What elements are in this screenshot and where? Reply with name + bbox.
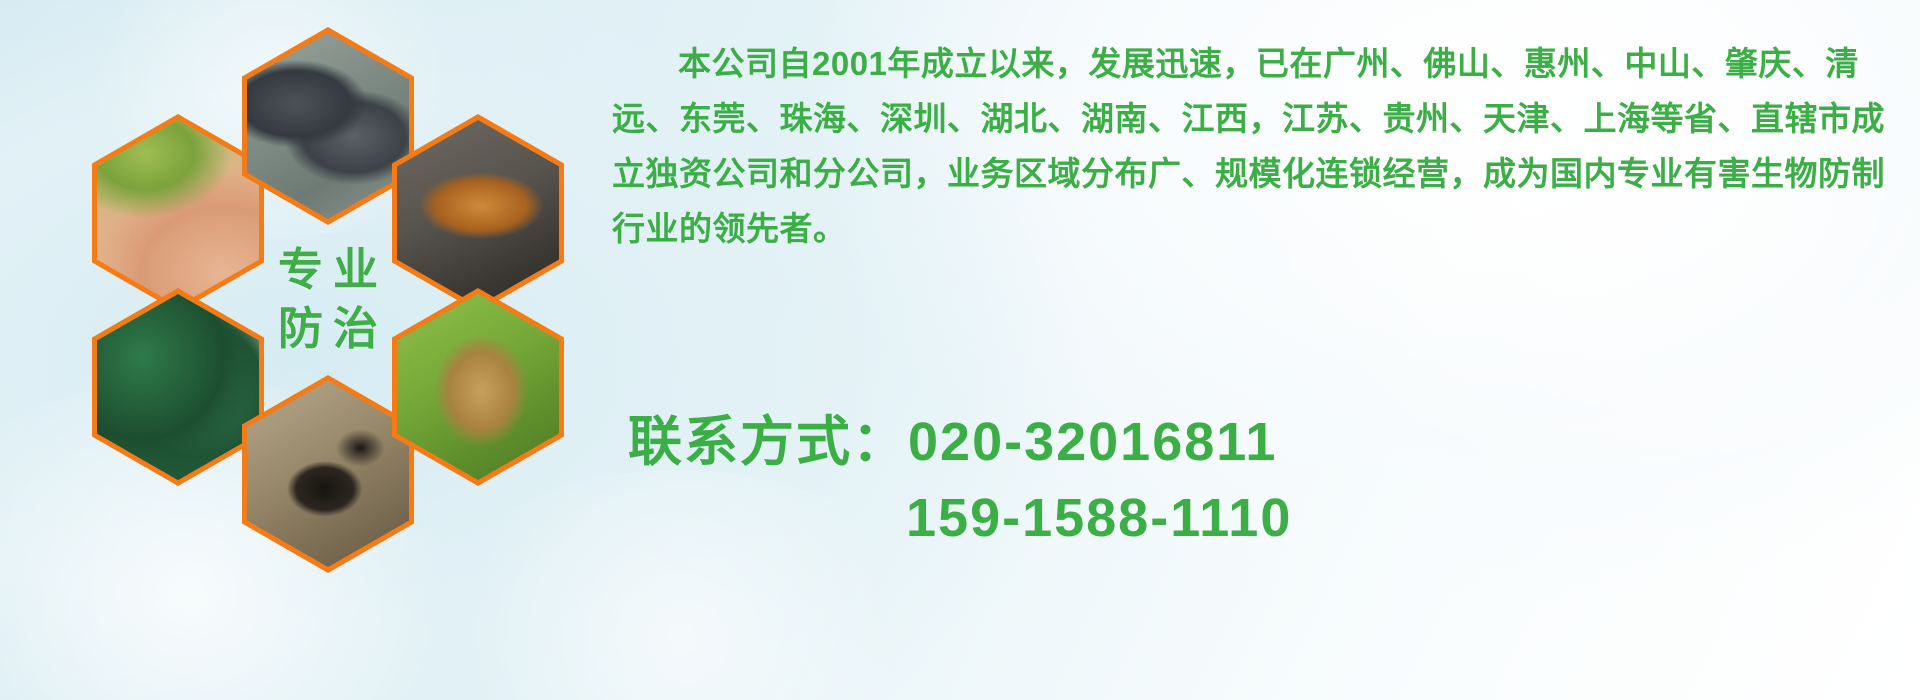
hex-photo-mosquito-frame (97, 120, 259, 306)
slogan-line-2: 防治 (268, 305, 388, 354)
fly-icon (97, 294, 259, 480)
hex-photo-stink-bug-frame (397, 294, 559, 480)
intro-copy-block: 本公司自2001年成立以来，发展迅速，已在广州、佛山、惠州、中山、肇庆、清远、东… (612, 36, 1912, 256)
hex-photo-ant-frame (247, 381, 409, 567)
hex-photo-flies (92, 288, 264, 486)
cockroach-icon (397, 120, 559, 306)
contact-phone-landline: 联系方式：020-32016811 (628, 404, 1292, 480)
ant-icon (247, 381, 409, 567)
hex-photo-rats (242, 27, 414, 225)
mosquito-icon (97, 120, 259, 306)
hex-photo-ant (242, 375, 414, 573)
contact-phone-mobile: 159-1588-1110 (628, 480, 1292, 556)
company-intro-paragraph: 本公司自2001年成立以来，发展迅速，已在广州、佛山、惠州、中山、肇庆、清远、东… (612, 36, 1912, 256)
slogan-line-1: 专业 (268, 246, 388, 295)
rat-icon (247, 33, 409, 219)
hex-photo-mosquito (92, 114, 264, 312)
honeycomb-image-cluster: 专业 防治 (92, 10, 592, 560)
hex-photo-cockroach-frame (397, 120, 559, 306)
hex-photo-rats-frame (247, 33, 409, 219)
stink-bug-icon (397, 294, 559, 480)
hex-photo-stink-bug (392, 288, 564, 486)
hex-photo-cockroach (392, 114, 564, 312)
company-intro-banner: 专业 防治 本公司自2001年成立以来，发展迅速，已在广州、佛山、惠州、中山、肇… (0, 0, 1920, 700)
hex-photo-flies-frame (97, 294, 259, 480)
contact-information: 联系方式：020-32016811 159-1588-1110 (628, 404, 1292, 556)
center-slogan-badge: 专业 防治 (242, 201, 414, 399)
